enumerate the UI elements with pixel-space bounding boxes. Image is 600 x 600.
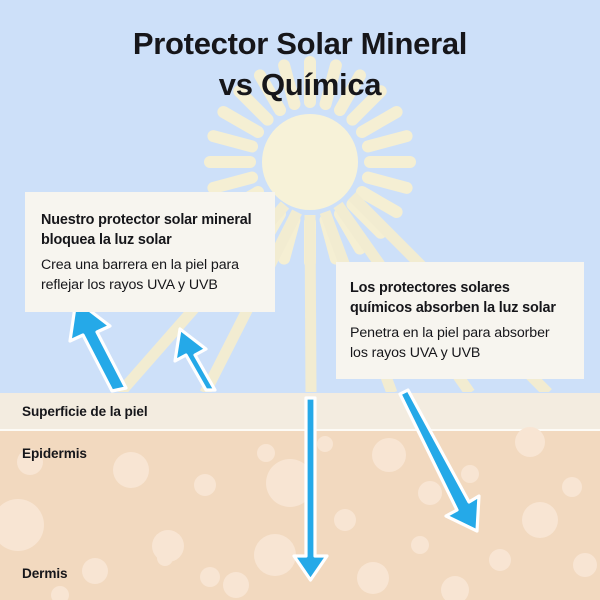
callout-mineral-heading: Nuestro protector solar mineral bloquea …	[41, 211, 259, 250]
callout-chemical-body: Penetra en la piel para absorber los ray…	[350, 324, 570, 363]
infographic-canvas: Protector Solar Mineral vs Química Nuest…	[0, 0, 600, 600]
callout-mineral: Nuestro protector solar mineral bloquea …	[25, 192, 275, 312]
layer-label-dermis: Dermis	[22, 566, 68, 581]
callout-mineral-body: Crea una barrera en la piel para refleja…	[41, 256, 259, 295]
layer-label-skin-surface: Superficie de la piel	[22, 404, 148, 419]
layer-label-epidermis: Epidermis	[22, 446, 87, 461]
page-title-line-2: vs Química	[0, 65, 600, 106]
callout-chemical: Los protectores solares químicos absorbe…	[336, 262, 584, 379]
sun-disc	[262, 114, 358, 210]
page-title: Protector Solar Mineral vs Química	[0, 24, 600, 106]
page-title-line-1: Protector Solar Mineral	[0, 24, 600, 65]
callout-chemical-heading: Los protectores solares químicos absorbe…	[350, 279, 570, 318]
